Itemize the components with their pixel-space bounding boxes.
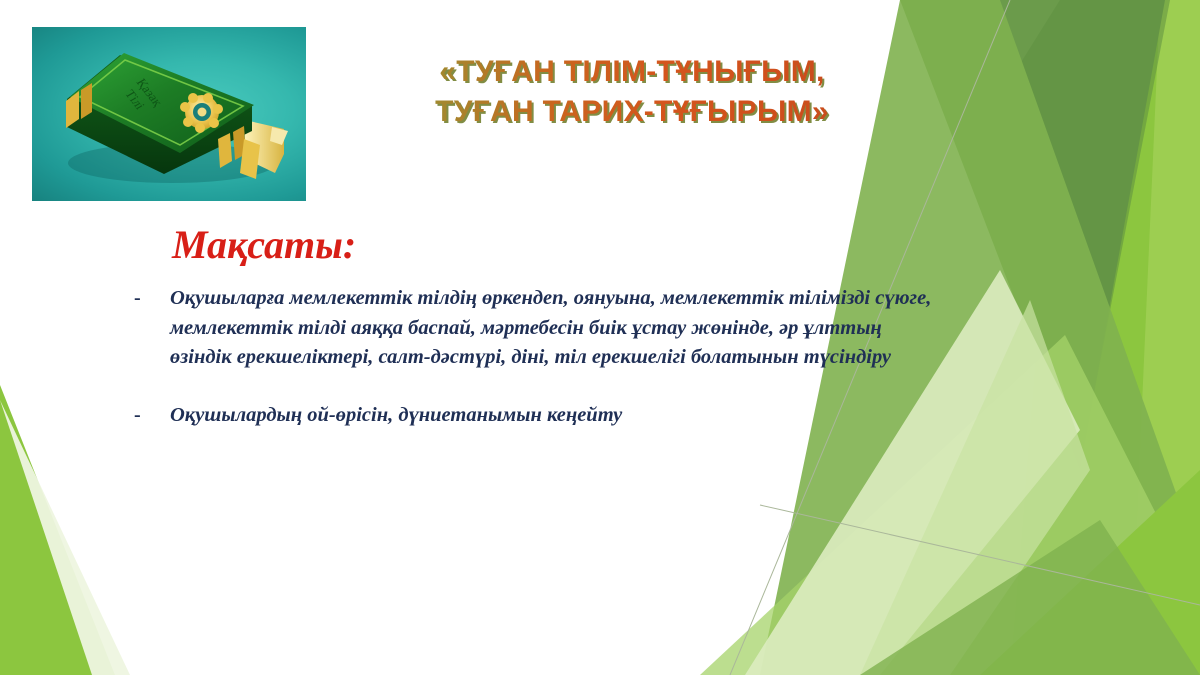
facet-shape-dark-vee (900, 0, 1165, 470)
title-line-2: ТУҒАН ТАРИХ-ТҰҒЫРЫМ» (372, 92, 892, 132)
bullet-marker: - (134, 284, 170, 314)
kazakh-language-book-image: Қазақ Тілі (32, 27, 306, 201)
facet-shape-dark-vee-inner (985, 0, 1170, 440)
list-item: - Оқушыларға мемлекеттік тілдің өркендеп… (134, 284, 934, 373)
facet-bottom-left-cluster (0, 385, 130, 675)
bullet-text: Оқушыларға мемлекеттік тілдің өркендеп, … (170, 284, 934, 373)
sliver-shape (0, 0, 6, 30)
list-item: - Оқушылардың ой-өрісін, дүниетанымын ке… (134, 401, 934, 431)
facet-shape-light-right (1130, 0, 1200, 675)
facet-shape-bottomleft (0, 385, 115, 675)
hairline-2 (760, 505, 1200, 605)
facet-shape-bright-right (1010, 0, 1200, 675)
facet-shape-bright-bottom (980, 470, 1200, 675)
bullet-marker: - (134, 401, 170, 431)
facet-shape-midgreen-bottom (860, 520, 1200, 675)
facet-shape-bottomleft-pale (0, 400, 130, 675)
bullet-list: - Оқушыларға мемлекеттік тілдің өркендеп… (134, 284, 934, 430)
facet-top-left-sliver (0, 0, 6, 30)
title-line-1: «ТУҒАН ТІЛІМ-ТҰНЫҒЫМ, (372, 52, 892, 92)
goal-heading: Мақсаты: (172, 222, 356, 268)
slide-canvas: Қазақ Тілі «ТУҒАН ТІЛІМ-ТҰНЫҒЫМ, ТУҒАН Т… (0, 0, 1200, 675)
bullet-text: Оқушылардың ой-өрісін, дүниетанымын кеңе… (170, 401, 934, 431)
slide-title: «ТУҒАН ТІЛІМ-ТҰНЫҒЫМ, ТУҒАН ТАРИХ-ТҰҒЫРЫ… (372, 52, 892, 132)
